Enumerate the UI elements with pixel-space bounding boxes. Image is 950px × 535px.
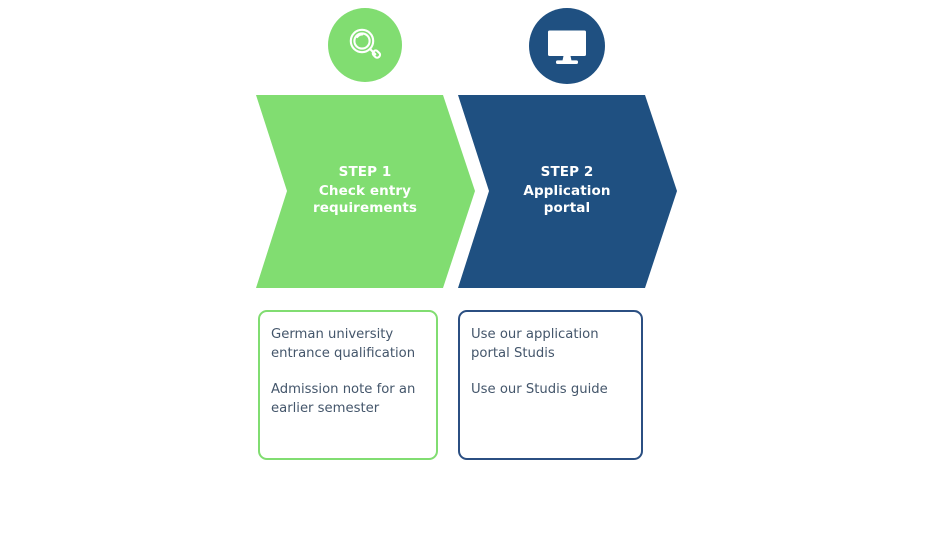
step2-icon-badge bbox=[529, 8, 605, 84]
step1-subtitle-line1: Check entry bbox=[290, 183, 440, 201]
infographic-canvas: STEP 1 Check entry requirements STEP 2 A… bbox=[0, 0, 950, 535]
step1-icon-badge bbox=[328, 8, 402, 82]
monitor-icon bbox=[543, 24, 591, 68]
step2-detail-item-1: Use our application portal Studis bbox=[471, 326, 629, 363]
step1-detail-item-2: Admission note for an earlier semester bbox=[271, 381, 424, 418]
step2-subtitle-line1: Application bbox=[492, 183, 642, 201]
step2-detail-box: Use our application portal Studis Use ou… bbox=[458, 310, 643, 460]
step1-detail-box: German university entrance qualification… bbox=[258, 310, 438, 460]
step2-title: STEP 2 bbox=[492, 164, 642, 182]
step2-detail-item-2: Use our Studis guide bbox=[471, 381, 629, 400]
step1-detail-item-1: German university entrance qualification bbox=[271, 326, 424, 363]
step1-subtitle-line2: requirements bbox=[290, 200, 440, 218]
step2-chevron-label: STEP 2 Application portal bbox=[492, 164, 642, 218]
magnifier-icon bbox=[343, 23, 387, 67]
step1-chevron-label: STEP 1 Check entry requirements bbox=[290, 164, 440, 218]
step1-title: STEP 1 bbox=[290, 164, 440, 182]
step2-subtitle-line2: portal bbox=[492, 200, 642, 218]
